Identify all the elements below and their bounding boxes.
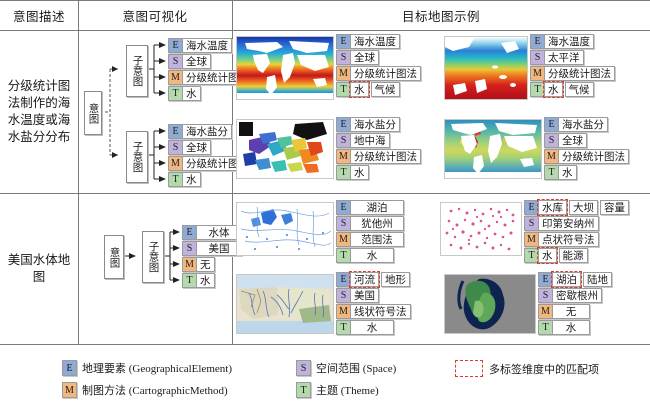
quad-row-S: S 美国	[336, 288, 379, 303]
badge-M: M	[538, 304, 553, 319]
badge-E: E	[336, 200, 351, 215]
quad-values: 范围法	[351, 232, 404, 247]
quad-row-E: E 海水温度	[168, 38, 232, 53]
quad-value: 印第安纳州	[539, 216, 599, 231]
quad-value: 海水温度	[545, 34, 594, 49]
quad-values: 海水温度	[545, 34, 594, 49]
quad-row-M: M 范围法	[336, 232, 404, 247]
row-2-description-text: 美国水体地图	[0, 252, 78, 286]
row-1-subintent-node-2: 子意图	[126, 131, 148, 183]
quad-value: 分级统计图法	[545, 66, 615, 81]
quad-row-T: T 水	[168, 172, 201, 187]
dashed-box-icon	[455, 360, 483, 377]
badge-S: S	[168, 54, 183, 69]
legend-item-geographical-element: E 地理要素 (GeographicalElement)	[62, 360, 232, 376]
quad-row-S: S 美国	[182, 241, 242, 256]
row-1-description-cell: 分级统计图法制作的海水温度或海水盐分分布	[0, 31, 78, 193]
quad-values: 太平洋	[545, 50, 584, 65]
badge-T: T	[336, 248, 351, 263]
row-2-subintent-node-1: 子意图	[142, 231, 164, 283]
badge-S: S	[336, 133, 351, 148]
map-thumbnail-lakes-utah	[236, 202, 334, 256]
quad-values: 水	[559, 165, 577, 180]
quad-values: 海水温度	[183, 38, 232, 53]
quad-row-M: M 分级统计图法	[530, 66, 615, 81]
quad-value: 水	[559, 165, 577, 180]
badge-S: S	[530, 50, 545, 65]
quad-values: 海水温度	[351, 34, 400, 49]
quad-row-S: S 全球	[168, 54, 211, 69]
legend-item-cartographic-method: M 制图方法 (CartographicMethod)	[62, 382, 228, 398]
quad-value: 全球	[183, 140, 211, 155]
quad-value: 水	[183, 172, 201, 187]
legend-item-space: S 空间范围 (Space)	[296, 360, 396, 376]
quad-value: 分级统计图法	[559, 149, 629, 164]
badge-T: T	[168, 86, 183, 101]
legend-label: 多标签维度中的匹配项	[489, 361, 599, 377]
quad-values: 密歇根州	[553, 288, 602, 303]
quad-value: 全球	[183, 54, 211, 69]
quad-value: 水	[351, 320, 394, 335]
badge-E: E	[336, 117, 351, 132]
quad-value: 大坝	[569, 200, 598, 215]
quad-row-T: T 水	[168, 86, 201, 101]
quad-value: 气候	[371, 82, 400, 97]
badge-E: E	[544, 117, 559, 132]
quad-value: 陆地	[583, 272, 612, 287]
badge-T: T	[336, 320, 351, 335]
badge-T: T	[336, 82, 351, 97]
quad-row-T: T 水	[538, 320, 590, 335]
badge-M: M	[182, 257, 197, 272]
quad-values: 河流 地形	[351, 272, 410, 287]
quad-value: 点状符号法	[539, 232, 599, 247]
quad-row-M: M 分级统计图法	[544, 149, 629, 164]
quad-values: 水 能源	[539, 248, 588, 263]
badge-S-icon: S	[296, 360, 311, 376]
legend-item-matched-value: 多标签维度中的匹配项	[455, 360, 599, 377]
quad-row-E: E 水体	[182, 225, 242, 240]
grid-line-col2	[232, 0, 233, 344]
quad-row-E: E 海水温度	[336, 34, 400, 49]
quad-value: 无	[553, 304, 590, 319]
quad-value: 海水盐分	[351, 117, 400, 132]
quad-row-T: T 水	[336, 320, 394, 335]
badge-E: E	[182, 225, 197, 240]
quad-value: 线状符号法	[351, 304, 411, 319]
badge-T: T	[524, 248, 539, 263]
quad-value-matched: 水库	[539, 200, 567, 215]
row-1-subintent-node-1: 子意图	[126, 45, 148, 97]
quad-values: 无	[197, 257, 215, 272]
badge-S: S	[336, 50, 351, 65]
quad-values: 美国	[351, 288, 379, 303]
quad-values: 点状符号法	[539, 232, 599, 247]
quad-value-matched: 湖泊	[553, 272, 581, 287]
quad-values: 水	[351, 165, 369, 180]
quad-values: 全球	[351, 50, 379, 65]
quad-value: 水	[351, 165, 369, 180]
badge-M: M	[336, 66, 351, 81]
quad-row-S: S 太平洋	[530, 50, 584, 65]
badge-M: M	[544, 149, 559, 164]
legend: E 地理要素 (GeographicalElement) M 制图方法 (Car…	[0, 350, 650, 403]
quad-values: 水 气候	[351, 82, 400, 97]
badge-M: M	[168, 156, 183, 171]
badge-T: T	[168, 172, 183, 187]
quad-value: 无	[197, 257, 215, 272]
figure-root: 意图描述 意图可视化 目标地图示例 分级统计图法制作的海水温度或海水盐分分布	[0, 0, 650, 403]
quad-value: 海水温度	[183, 38, 232, 53]
map-thumbnail-sst-pacific	[444, 36, 528, 100]
row-1-description-text: 分级统计图法制作的海水温度或海水盐分分布	[0, 78, 78, 146]
quad-value: 海水盐分	[559, 117, 608, 132]
quad-value: 能源	[559, 248, 588, 263]
quad-value-matched: 水	[539, 248, 557, 263]
quad-values: 水库 大坝 容量	[539, 200, 629, 215]
quad-row-T: T 水	[336, 248, 394, 263]
quad-value: 全球	[559, 133, 587, 148]
quad-values: 全球	[183, 140, 211, 155]
legend-label: 地理要素 (GeographicalElement)	[82, 360, 232, 376]
quad-row-E: E 海水盐分	[544, 117, 608, 132]
badge-S: S	[182, 241, 197, 256]
quad-value: 水	[351, 248, 394, 263]
quad-row-S: S 全球	[168, 140, 211, 155]
badge-S: S	[524, 216, 539, 231]
row-2-description-cell: 美国水体地图	[0, 194, 78, 344]
quad-values: 水	[183, 86, 201, 101]
quad-row-E: E 湖泊	[336, 200, 404, 215]
badge-T: T	[182, 273, 197, 288]
quad-value: 海水温度	[351, 34, 400, 49]
badge-E: E	[530, 34, 545, 49]
header-intent-visualization: 意图可视化	[78, 0, 232, 30]
quad-values: 湖泊	[351, 200, 404, 215]
quad-values: 分级统计图法	[351, 66, 421, 81]
quad-value: 气候	[565, 82, 594, 97]
legend-item-theme: T 主题 (Theme)	[296, 382, 379, 398]
quad-values: 犹他州	[351, 216, 404, 231]
quad-row-S: S 地中海	[336, 133, 390, 148]
row-1-intent-node: 意图	[84, 91, 102, 135]
map-thumbnail-salinity-global	[444, 119, 542, 179]
map-thumbnail-salinity-mediterranean	[236, 119, 334, 179]
quad-row-M: M 线状符号法	[336, 304, 411, 319]
quad-row-T: T 水	[182, 273, 215, 288]
badge-T: T	[530, 82, 545, 97]
quad-row-T: T 水 能源	[524, 248, 588, 263]
quad-values: 印第安纳州	[539, 216, 599, 231]
quad-values: 海水盐分	[183, 124, 232, 139]
badge-E: E	[538, 272, 553, 287]
quad-value: 太平洋	[545, 50, 584, 65]
badge-E-icon: E	[62, 360, 77, 376]
map-thumbnail-lakes-michigan	[444, 274, 536, 334]
quad-row-T: T 水 气候	[530, 82, 594, 97]
quad-value: 容量	[600, 200, 629, 215]
badge-M: M	[336, 232, 351, 247]
quad-value: 地形	[381, 272, 410, 287]
quad-values: 无	[553, 304, 590, 319]
map-thumbnail-rivers-usa	[236, 274, 334, 334]
quad-values: 全球	[559, 133, 587, 148]
quad-row-E: E 海水盐分	[336, 117, 400, 132]
quad-row-M: M 分级统计图法	[336, 66, 421, 81]
quad-row-E: E 水库 大坝 容量	[524, 200, 629, 215]
quad-row-E: E 海水温度	[530, 34, 594, 49]
badge-S: S	[544, 133, 559, 148]
row-2-intent-node: 意图	[104, 235, 124, 279]
legend-label: 主题 (Theme)	[316, 382, 379, 398]
quad-value: 犹他州	[351, 216, 404, 231]
quad-value-matched: 水	[545, 82, 563, 97]
quad-row-S: S 全球	[544, 133, 587, 148]
quad-value: 水	[553, 320, 590, 335]
badge-S: S	[538, 288, 553, 303]
quad-values: 分级统计图法	[351, 149, 421, 164]
quad-values: 水	[197, 273, 215, 288]
quad-values: 分级统计图法	[559, 149, 629, 164]
quad-row-S: S 全球	[336, 50, 379, 65]
quad-row-M: M 点状符号法	[524, 232, 599, 247]
quad-values: 地中海	[351, 133, 390, 148]
badge-E: E	[168, 124, 183, 139]
quad-value: 海水盐分	[183, 124, 232, 139]
quad-value: 水	[197, 273, 215, 288]
badge-E: E	[524, 200, 539, 215]
quad-value: 美国	[351, 288, 379, 303]
quad-value: 水	[183, 86, 201, 101]
quad-row-E: E 湖泊 陆地	[538, 272, 612, 287]
badge-M: M	[530, 66, 545, 81]
map-thumbnail-reservoirs-indiana	[440, 202, 522, 256]
quad-values: 海水盐分	[559, 117, 608, 132]
quad-value: 分级统计图法	[351, 66, 421, 81]
badge-E: E	[336, 272, 351, 287]
quad-row-M: M 无	[538, 304, 590, 319]
badge-T: T	[538, 320, 553, 335]
quad-values: 水	[183, 172, 201, 187]
badge-S: S	[336, 216, 351, 231]
badge-T: T	[544, 165, 559, 180]
badge-S: S	[336, 288, 351, 303]
quad-row-T: T 水 气候	[336, 82, 400, 97]
quad-values: 水	[351, 320, 394, 335]
quad-value: 密歇根州	[553, 288, 602, 303]
quad-value: 分级统计图法	[351, 149, 421, 164]
quad-values: 水 气候	[545, 82, 594, 97]
quad-row-M: M 无	[182, 257, 215, 272]
quad-row-E: E 河流 地形	[336, 272, 410, 287]
quad-values: 水	[553, 320, 590, 335]
quad-row-M: M 分级统计图法	[336, 149, 421, 164]
quad-value-matched: 河流	[351, 272, 379, 287]
row-2-intent-visualization: 意图 子意图 E 水体 S 美国 M 无 T	[78, 194, 232, 344]
map-thumbnail-sst-global	[236, 36, 334, 100]
quad-values: 线状符号法	[351, 304, 411, 319]
quad-values: 湖泊 陆地	[553, 272, 612, 287]
header-target-map-examples: 目标地图示例	[232, 0, 650, 30]
badge-M: M	[336, 304, 351, 319]
row-1-intent-visualization: 意图 子意图 子意图 E 海水温度 S 全球 M 分级统计图法	[78, 31, 232, 193]
badge-T: T	[336, 165, 351, 180]
quad-values: 海水盐分	[351, 117, 400, 132]
quad-values: 水	[351, 248, 394, 263]
grid-line-row2	[0, 344, 650, 345]
quad-value: 全球	[351, 50, 379, 65]
quad-row-S: S 密歇根州	[538, 288, 602, 303]
badge-S: S	[168, 140, 183, 155]
badge-M-icon: M	[62, 382, 77, 398]
quad-row-S: S 印第安纳州	[524, 216, 599, 231]
quad-row-T: T 水	[544, 165, 577, 180]
badge-E: E	[336, 34, 351, 49]
header-intent-description: 意图描述	[0, 0, 78, 30]
quad-row-T: T 水	[336, 165, 369, 180]
quad-row-E: E 海水盐分	[168, 124, 232, 139]
quad-row-S: S 犹他州	[336, 216, 404, 231]
badge-T-icon: T	[296, 382, 311, 398]
badge-E: E	[168, 38, 183, 53]
quad-value: 湖泊	[351, 200, 404, 215]
legend-label: 制图方法 (CartographicMethod)	[82, 382, 228, 398]
legend-label: 空间范围 (Space)	[316, 360, 396, 376]
quad-value: 范围法	[351, 232, 404, 247]
badge-M: M	[524, 232, 539, 247]
quad-value: 地中海	[351, 133, 390, 148]
badge-M: M	[336, 149, 351, 164]
quad-values: 全球	[183, 54, 211, 69]
quad-value-matched: 水	[351, 82, 369, 97]
quad-values: 分级统计图法	[545, 66, 615, 81]
badge-M: M	[168, 70, 183, 85]
